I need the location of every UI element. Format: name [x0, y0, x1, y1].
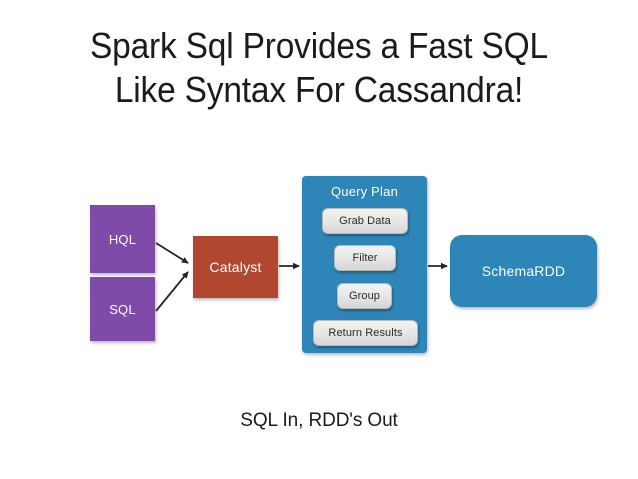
- query-plan-step-filter[interactable]: Filter: [334, 245, 396, 271]
- slide-caption: SQL In, RDD's Out: [0, 410, 638, 432]
- panel-query-plan[interactable]: Query Plan Grab Data Filter Group Return…: [302, 176, 427, 353]
- page-title: Spark Sql Provides a Fast SQL Like Synta…: [22, 24, 615, 112]
- slide-canvas: Spark Sql Provides a Fast SQL Like Synta…: [0, 0, 638, 479]
- query-plan-title: Query Plan: [302, 184, 427, 199]
- node-catalyst[interactable]: Catalyst: [193, 236, 278, 298]
- query-plan-step-group[interactable]: Group: [337, 283, 392, 309]
- query-plan-step-return-results[interactable]: Return Results: [313, 320, 418, 346]
- node-sql[interactable]: SQL: [90, 277, 155, 341]
- node-schemardd[interactable]: SchemaRDD: [450, 235, 597, 307]
- arrow-sql-to-catalyst: [156, 272, 188, 311]
- node-hql[interactable]: HQL: [90, 205, 155, 273]
- query-plan-step-grab-data[interactable]: Grab Data: [322, 208, 408, 234]
- arrow-hql-to-catalyst: [156, 243, 188, 263]
